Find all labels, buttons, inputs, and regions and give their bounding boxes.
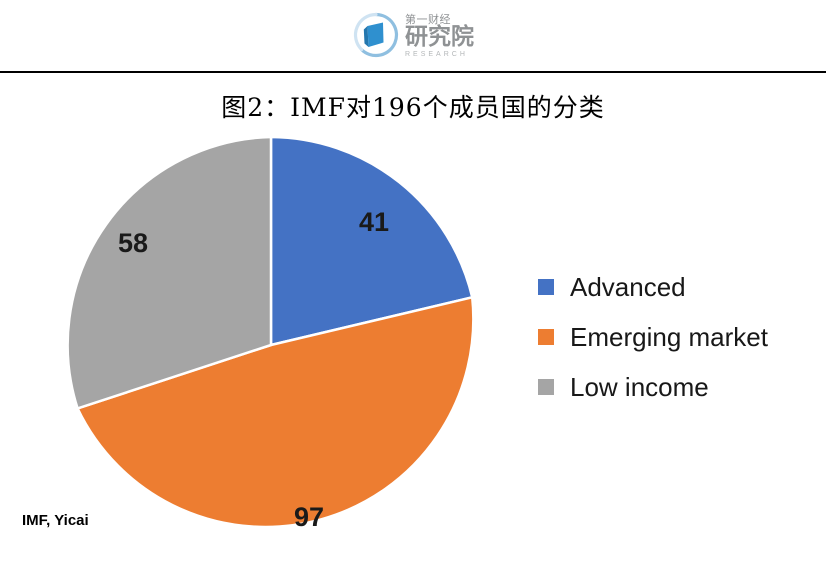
chart-title: 图2：IMF对196个成员国的分类: [0, 88, 826, 124]
pie-label-advanced: 41: [359, 207, 389, 237]
logo-en-sub: RESEARCH: [405, 51, 474, 58]
pie-chart: 41 97 58: [60, 134, 482, 556]
chart-page: 第一财经 研究院 RESEARCH 图2：IMF对196个成员国的分类 41 9…: [0, 0, 826, 562]
pie-label-emerging-market: 97: [294, 502, 324, 532]
legend-swatch-low-income: [538, 379, 554, 395]
header-divider: [0, 71, 826, 73]
legend-swatch-emerging-market: [538, 329, 554, 345]
legend-swatch-advanced: [538, 279, 554, 295]
legend-item-advanced[interactable]: Advanced: [538, 262, 818, 312]
logo-circle-book-icon: [352, 11, 400, 59]
pie-label-low-income: 58: [118, 228, 148, 258]
chart-legend: Advanced Emerging market Low income: [538, 262, 818, 412]
yicai-research-logo: 第一财经 研究院 RESEARCH: [352, 9, 492, 61]
pie-chart-svg: 41 97 58: [60, 134, 482, 556]
logo-cn-big: 研究院: [405, 26, 474, 49]
legend-item-low-income[interactable]: Low income: [538, 362, 818, 412]
legend-item-emerging-market[interactable]: Emerging market: [538, 312, 818, 362]
legend-label-low-income: Low income: [570, 374, 709, 400]
logo-wordmark: 第一财经 研究院 RESEARCH: [405, 12, 474, 58]
legend-label-advanced: Advanced: [570, 274, 686, 300]
legend-label-emerging-market: Emerging market: [570, 324, 768, 350]
page-header: 第一财经 研究院 RESEARCH: [0, 0, 826, 72]
chart-source-note: IMF, Yicai: [22, 512, 89, 529]
